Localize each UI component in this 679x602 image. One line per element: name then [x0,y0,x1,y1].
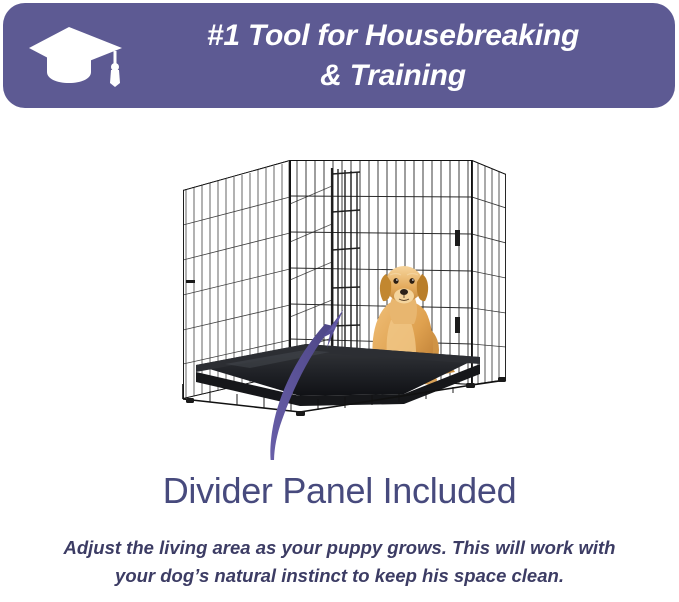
crate-right-panel [472,160,506,385]
banner-heading-line-1: #1 Tool for Housebreaking [207,16,579,56]
page-subcopy: Adjust the living area as your puppy gro… [34,534,645,590]
subcopy-line-2: your dog’s natural instinct to keep his … [34,562,645,590]
page-headline: Divider Panel Included [0,470,679,512]
graduation-cap-icon [25,25,125,87]
product-image [0,112,679,460]
subcopy-line-1: Adjust the living area as your puppy gro… [34,534,645,562]
header-banner: #1 Tool for Housebreaking & Training [3,3,675,108]
banner-heading: #1 Tool for Housebreaking & Training [123,3,663,108]
banner-heading-line-2: & Training [320,56,466,96]
